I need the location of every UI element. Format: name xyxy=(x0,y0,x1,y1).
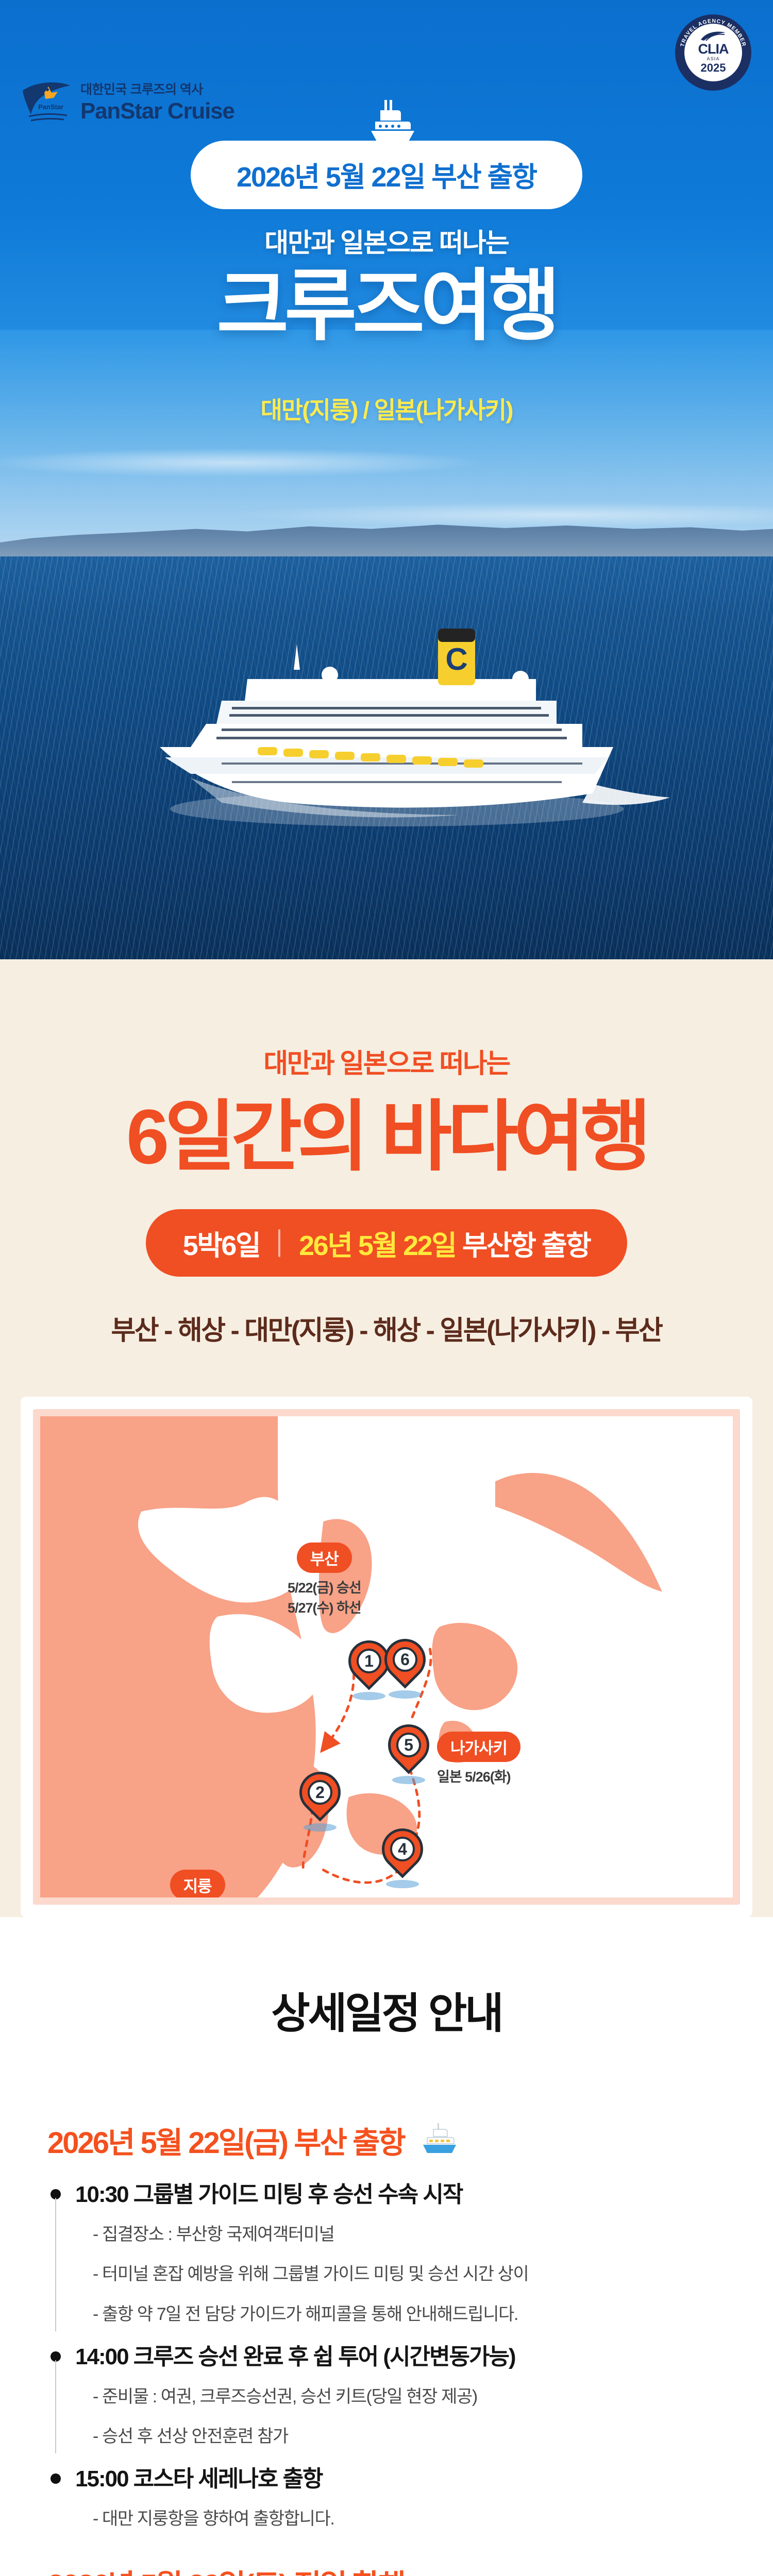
map-label-nagasaki-line1: 일본 5/26(화) xyxy=(437,1767,520,1787)
map-pin-2[interactable]: 2 xyxy=(298,1772,342,1829)
badge-divider xyxy=(278,1229,280,1257)
hero-title: 크루즈여행 xyxy=(0,267,773,345)
route-summary: 부산 - 해상 - 대만(지룽) - 해상 - 일본(나가사키) - 부산 xyxy=(0,1309,773,1347)
clia-ring-top: TRAVEL AGENCY MEMBER xyxy=(679,18,747,47)
route-map: 1 6 2 3 4 xyxy=(33,1409,740,1905)
map-label-busan-chip: 부산 xyxy=(297,1543,352,1573)
schedule-item-notes: - 집결장소 : 부산항 국제여객터미널- 터미널 혼잡 예방을 위해 그룹별 … xyxy=(93,2222,726,2327)
intro-section: 대만과 일본으로 떠나는 6일간의 바다여행 5박6일 26년 5월 22일 부… xyxy=(0,959,773,1917)
map-label-keelung: 지룽 타이베이 5/24(일) xyxy=(148,1870,246,1905)
hero-subtitle: 대만과 일본으로 떠나는 xyxy=(0,222,773,260)
schedule-item-note: - 대만 지룽항을 향하여 출항합니다. xyxy=(93,2506,726,2532)
schedule-day-heading: 2026년 5월 22일(토) 전일 항해 xyxy=(47,2561,726,2576)
map-pin-4-number: 4 xyxy=(390,1837,415,1861)
costa-serena-ship-photo: C xyxy=(129,592,680,840)
map-label-busan: 부산 5/22(금) 승선 5/27(수) 하선 xyxy=(288,1543,361,1618)
map-label-keelung-chip: 지룽 xyxy=(170,1870,225,1900)
day-ship-icon xyxy=(416,2122,460,2158)
schedule-item-note: - 집결장소 : 부산항 국제여객터미널 xyxy=(93,2222,726,2247)
badge-duration: 5박6일 xyxy=(183,1223,260,1263)
clia-member-badge: TRAVEL AGENCY MEMBER CRUISE LINES INTERN… xyxy=(675,14,751,91)
schedule-day: 2026년 5월 22일(토) 전일 항해전일 항해- 1일 5식 무료 제공 … xyxy=(0,2561,773,2576)
schedule-day-heading-text: 2026년 5월 22일(금) 부산 출항 xyxy=(47,2119,405,2162)
badge-departure-date: 26년 5월 22일 xyxy=(299,1230,456,1261)
map-label-busan-line1: 5/22(금) 승선 xyxy=(288,1578,361,1598)
route-map-panel: 1 6 2 3 4 xyxy=(21,1397,752,1917)
departure-date-text: 2026년 5월 22일 부산 출항 xyxy=(237,162,536,193)
departure-date-pill: 2026년 5월 22일 부산 출항 xyxy=(191,141,582,209)
intro-title: 6일간의 바다여행 xyxy=(0,1098,773,1175)
schedule-item-title: 14:00 크루즈 승선 완료 후 쉽 투어 (시간변동가능) xyxy=(75,2343,726,2371)
schedule-item-list: 10:30 그룹별 가이드 미팅 후 승선 수속 시작- 집결장소 : 부산항 … xyxy=(47,2180,726,2532)
map-pin-4[interactable]: 4 xyxy=(380,1828,425,1886)
map-pin-2-number: 2 xyxy=(308,1780,332,1805)
map-label-nagasaki: 나가사키 일본 5/26(화) xyxy=(437,1732,520,1787)
schedule-item: 10:30 그룹별 가이드 미팅 후 승선 수속 시작- 집결장소 : 부산항 … xyxy=(47,2180,726,2327)
hero-section: PanStar 대한민국 크루즈의 역사 PanStar Cruise TRAV… xyxy=(0,0,773,959)
schedule-item-note: - 준비물 : 여권, 크루즈승선권, 승선 키트(당일 현장 제공) xyxy=(93,2384,726,2410)
map-pin-1-number: 1 xyxy=(357,1649,381,1673)
map-pin-6[interactable]: 6 xyxy=(383,1639,427,1697)
schedule-day-list: 2026년 5월 22일(금) 부산 출항10:30 그룹별 가이드 미팅 후 … xyxy=(0,2119,773,2576)
schedule-item: 15:00 코스타 세레나호 출항- 대만 지룽항을 향하여 출항합니다. xyxy=(47,2465,726,2532)
hero-ports: 대만(지룽) / 일본(나가사키) xyxy=(0,392,773,426)
schedule-item-note: - 터미널 혼잡 예방을 위해 그룹별 가이드 미팅 및 승선 시간 상이 xyxy=(93,2262,726,2287)
map-label-busan-line2: 5/27(수) 하선 xyxy=(288,1598,361,1618)
intro-subtitle: 대만과 일본으로 떠나는 xyxy=(0,1042,773,1080)
brand-name: PanStar Cruise xyxy=(80,100,234,123)
svg-text:C: C xyxy=(445,642,467,676)
panstar-ship-logo-icon: PanStar xyxy=(20,77,73,125)
badge-departure: 26년 5월 22일 부산항 출항 xyxy=(299,1223,590,1263)
map-pin-5-number: 5 xyxy=(396,1733,421,1757)
brand-logo[interactable]: PanStar 대한민국 크루즈의 역사 PanStar Cruise xyxy=(20,77,234,125)
schedule-day-heading: 2026년 5월 22일(금) 부산 출항 xyxy=(47,2119,726,2162)
map-pin-6-number: 6 xyxy=(393,1647,417,1672)
schedule-item-notes: - 준비물 : 여권, 크루즈승선권, 승선 키트(당일 현장 제공)- 승선 … xyxy=(93,2384,726,2450)
schedule-item-note: - 출항 약 7일 전 담당 가이드가 해피콜을 통해 안내해드립니다. xyxy=(93,2302,726,2327)
schedule-title: 상세일정 안내 xyxy=(0,1917,773,2090)
promo-page: PanStar 대한민국 크루즈의 역사 PanStar Cruise TRAV… xyxy=(0,0,773,2576)
duration-departure-badge: 5박6일 26년 5월 22일 부산항 출항 xyxy=(146,1209,628,1277)
schedule-day: 2026년 5월 22일(금) 부산 출항10:30 그룹별 가이드 미팅 후 … xyxy=(0,2119,773,2532)
brand-tagline: 대한민국 크루즈의 역사 xyxy=(80,79,234,98)
badge-departure-port: 부산항 출항 xyxy=(462,1230,590,1261)
schedule-item-title: 15:00 코스타 세레나호 출항 xyxy=(75,2465,726,2493)
schedule-day-heading-text: 2026년 5월 22일(토) 전일 항해 xyxy=(47,2561,405,2576)
svg-text:PanStar: PanStar xyxy=(38,103,63,111)
schedule-item: 14:00 크루즈 승선 완료 후 쉽 투어 (시간변동가능)- 준비물 : 여… xyxy=(47,2343,726,2450)
schedule-item-note: - 승선 후 선상 안전훈련 참가 xyxy=(93,2424,726,2449)
schedule-item-notes: - 대만 지룽항을 향하여 출항합니다. xyxy=(93,2506,726,2532)
schedule-item-title: 10:30 그룹별 가이드 미팅 후 승선 수속 시작 xyxy=(75,2180,726,2209)
svg-text:TRAVEL AGENCY MEMBER: TRAVEL AGENCY MEMBER xyxy=(679,18,747,47)
map-label-nagasaki-chip: 나가사키 xyxy=(437,1732,520,1762)
schedule-section: 상세일정 안내 2026년 5월 22일(금) 부산 출항10:30 그룹별 가… xyxy=(0,1917,773,2576)
map-pin-5[interactable]: 5 xyxy=(386,1724,431,1782)
